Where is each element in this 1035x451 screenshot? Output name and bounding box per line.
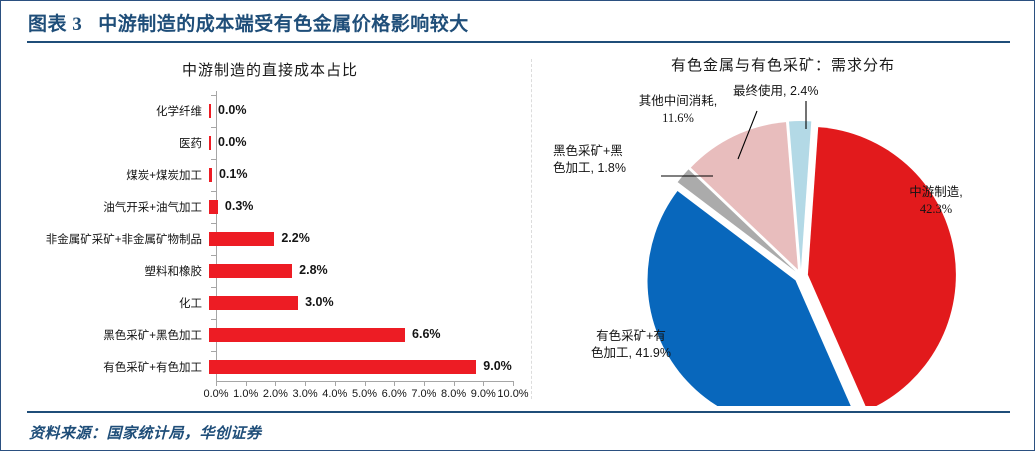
pie-chart-plot: 最终使用, 2.4% 其他中间消耗, 11.6% 黑色采矿+黑 色加工, 1.8…: [533, 51, 1033, 406]
bar-x-tick-label: 0.0%: [203, 388, 228, 400]
figure-index: 图表 3: [28, 14, 82, 35]
bar-y-tick: [211, 351, 216, 352]
bar-row: 塑料和橡胶2.8%: [11, 255, 529, 287]
figure-title-text: 中游制造的成本端受有色金属价格影响较大: [98, 14, 469, 35]
bar-value-label: 2.8%: [299, 263, 328, 277]
figure-header: 图表 3中游制造的成本端受有色金属价格影响较大: [1, 1, 1035, 45]
pie-label-midstream-line2: 42.3%: [888, 201, 984, 218]
bar-track: 6.6%: [209, 319, 509, 351]
bar-x-tick-label: 7.0%: [411, 388, 436, 400]
bar-x-tick-mark: [483, 381, 484, 386]
bar-x-tick-mark: [424, 381, 425, 386]
bar-value-label: 6.6%: [412, 327, 441, 341]
bar-fill[interactable]: [209, 328, 405, 342]
bar-fill[interactable]: [209, 200, 218, 214]
bar-category-label: 黑色采矿+黑色加工: [11, 327, 209, 343]
bar-x-tick-mark: [394, 381, 395, 386]
bar-x-tick-label: 10.0%: [497, 388, 528, 400]
bar-x-tick-mark: [305, 381, 306, 386]
footer-divider: [27, 411, 1010, 413]
pie-label-ferrous-line2: 色加工, 1.8%: [553, 160, 626, 177]
pie-label-other-intermediate: 其他中间消耗, 11.6%: [618, 93, 738, 127]
bar-fill[interactable]: [209, 168, 212, 182]
bar-track: 0.3%: [209, 191, 509, 223]
header-divider: [27, 41, 1010, 43]
bar-track: 2.2%: [209, 223, 509, 255]
bar-x-tick-mark: [365, 381, 366, 386]
bar-row: 煤炭+煤炭加工0.1%: [11, 159, 529, 191]
bar-category-label: 非金属矿采矿+非金属矿物制品: [11, 231, 209, 247]
pie-label-nonferrous-line2: 色加工, 41.9%: [573, 345, 689, 362]
bar-category-label: 医药: [11, 135, 209, 151]
bar-value-label: 0.3%: [225, 199, 254, 213]
bar-row: 医药0.0%: [11, 127, 529, 159]
bar-category-label: 塑料和橡胶: [11, 263, 209, 279]
bar-fill[interactable]: [209, 296, 298, 310]
bar-y-tick: [211, 191, 216, 192]
panel-divider: [531, 59, 532, 399]
bar-row: 有色采矿+有色加工9.0%: [11, 351, 529, 383]
bar-chart-title: 中游制造的直接成本占比: [11, 59, 529, 80]
bar-x-tick-mark: [216, 381, 217, 386]
bar-y-tick: [211, 127, 216, 128]
bar-category-label: 油气开采+油气加工: [11, 199, 209, 215]
right-chart-panel: 有色金属与有色采矿：需求分布 最终使用, 2.4% 其他中间消耗, 11.6% …: [533, 51, 1033, 406]
bar-value-label: 0.1%: [219, 167, 248, 181]
bar-x-tick-label: 5.0%: [352, 388, 377, 400]
bar-fill[interactable]: [209, 232, 274, 246]
bar-y-tick: [211, 319, 216, 320]
pie-label-final-use: 最终使用, 2.4%: [733, 83, 818, 100]
pie-label-other-intermediate-line2: 11.6%: [618, 110, 738, 127]
bar-track: 9.0%: [209, 351, 509, 383]
bar-category-label: 煤炭+煤炭加工: [11, 167, 209, 183]
pie-label-ferrous: 黑色采矿+黑 色加工, 1.8%: [553, 143, 626, 177]
bar-y-tick: [211, 159, 216, 160]
bar-fill[interactable]: [209, 360, 476, 374]
bar-x-tick-mark: [246, 381, 247, 386]
bar-value-label: 0.0%: [218, 103, 247, 117]
source-note: 资料来源：国家统计局，华创证券: [29, 422, 262, 443]
figure-container: 图表 3中游制造的成本端受有色金属价格影响较大 中游制造的直接成本占比 化学纤维…: [0, 0, 1035, 451]
bar-category-label: 化工: [11, 295, 209, 311]
bar-y-tick: [211, 287, 216, 288]
page-title: 图表 3中游制造的成本端受有色金属价格影响较大: [28, 9, 469, 36]
bar-category-label: 化学纤维: [11, 103, 209, 119]
bar-y-tick: [211, 255, 216, 256]
bar-fill[interactable]: [209, 264, 292, 278]
bar-x-tick-mark: [454, 381, 455, 386]
bar-value-label: 9.0%: [483, 359, 512, 373]
pie-label-final-use-line1: 最终使用, 2.4%: [733, 83, 818, 100]
bar-x-tick-label: 9.0%: [471, 388, 496, 400]
pie-label-nonferrous: 有色采矿+有 色加工, 41.9%: [573, 328, 689, 362]
bar-row: 油气开采+油气加工0.3%: [11, 191, 529, 223]
bar-chart-plot: 化学纤维0.0%医药0.0%煤炭+煤炭加工0.1%油气开采+油气加工0.3%非金…: [11, 91, 529, 406]
bar-row: 化学纤维0.0%: [11, 95, 529, 127]
bar-x-tick-label: 2.0%: [263, 388, 288, 400]
bar-row: 黑色采矿+黑色加工6.6%: [11, 319, 529, 351]
bar-fill[interactable]: [209, 104, 211, 118]
bar-value-label: 0.0%: [218, 135, 247, 149]
bar-row: 化工3.0%: [11, 287, 529, 319]
pie-label-midstream-line1: 中游制造,: [888, 184, 984, 201]
bar-track: 0.0%: [209, 95, 509, 127]
bar-x-tick-label: 8.0%: [441, 388, 466, 400]
bar-y-tick: [211, 223, 216, 224]
bar-x-tick-mark: [275, 381, 276, 386]
bar-track: 2.8%: [209, 255, 509, 287]
bar-y-tick: [211, 95, 216, 96]
left-chart-panel: 中游制造的直接成本占比 化学纤维0.0%医药0.0%煤炭+煤炭加工0.1%油气开…: [11, 51, 529, 406]
bar-x-tick-label: 1.0%: [233, 388, 258, 400]
bar-track: 0.0%: [209, 127, 509, 159]
bar-value-label: 2.2%: [281, 231, 310, 245]
bar-row: 非金属矿采矿+非金属矿物制品2.2%: [11, 223, 529, 255]
bar-fill[interactable]: [209, 136, 211, 150]
bar-track: 0.1%: [209, 159, 509, 191]
pie-label-nonferrous-line1: 有色采矿+有: [573, 328, 689, 345]
bar-x-tick-mark: [513, 381, 514, 386]
pie-label-ferrous-line1: 黑色采矿+黑: [553, 143, 626, 160]
bar-x-tick-mark: [335, 381, 336, 386]
bar-x-tick-label: 6.0%: [382, 388, 407, 400]
pie-label-other-intermediate-line1: 其他中间消耗,: [618, 93, 738, 110]
bar-track: 3.0%: [209, 287, 509, 319]
bar-category-label: 有色采矿+有色加工: [11, 359, 209, 375]
bar-x-tick-label: 3.0%: [293, 388, 318, 400]
pie-label-midstream: 中游制造, 42.3%: [888, 184, 984, 218]
bar-x-tick-label: 4.0%: [322, 388, 347, 400]
bar-value-label: 3.0%: [305, 295, 334, 309]
